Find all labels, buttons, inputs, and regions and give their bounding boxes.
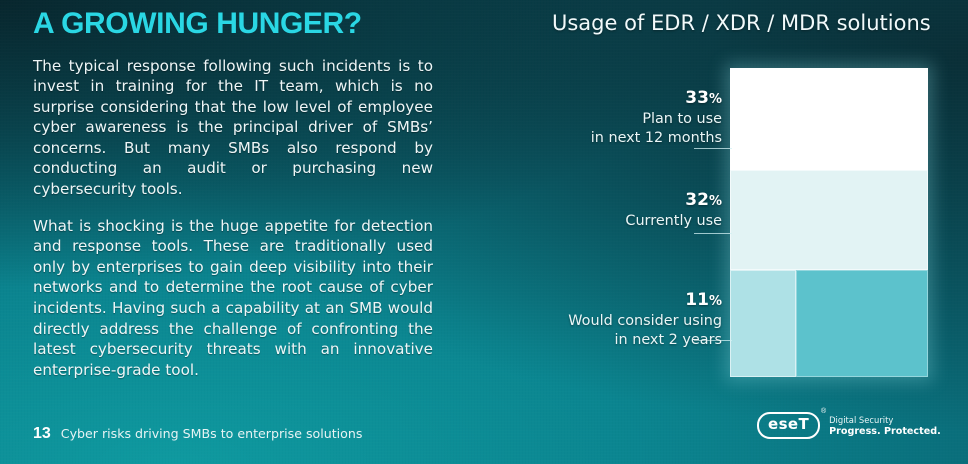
chart-caption-currently-use-line1: Currently use — [625, 212, 722, 231]
chart-caption-would-consider-line1: Would consider using — [568, 312, 722, 331]
page-footer: 13 Cyber risks driving SMBs to enterpris… — [33, 425, 362, 443]
chart-segment-plan-to-use — [730, 68, 928, 170]
chart-caption-would-consider-line2: in next 2 years — [568, 331, 722, 350]
article-column: A GROWING HUNGER? The typical response f… — [33, 8, 433, 380]
article-paragraph-2: What is shocking is the huge appetite fo… — [33, 216, 433, 381]
eset-logo-box: eseT — [757, 412, 820, 439]
page-title: A GROWING HUNGER? — [33, 8, 433, 40]
registered-trademark-icon: ® — [821, 408, 826, 415]
chart-caption-plan-to-use-line2: in next 12 months — [591, 129, 722, 148]
eset-tagline: Digital Security Progress. Protected. — [829, 415, 941, 437]
leader-line-currently-use — [694, 233, 732, 234]
chart-segment-currently-use — [730, 170, 928, 270]
eset-tagline-line1: Digital Security — [829, 415, 941, 426]
leader-line-plan-to-use — [694, 148, 732, 149]
eset-logo: eseT ® Digital Security Progress. Protec… — [757, 412, 941, 439]
eset-logo-mark: eseT ® — [757, 412, 820, 439]
chart-label-plan-to-use: 33% Plan to use in next 12 months — [591, 88, 722, 148]
page-number: 13 — [33, 425, 51, 443]
chart-value-plan-to-use: 33% — [591, 88, 722, 110]
eset-tagline-line2: Progress. Protected. — [829, 426, 941, 437]
chart-segment-would-consider — [730, 270, 928, 377]
chart-label-currently-use: 32% Currently use — [625, 190, 722, 231]
article-paragraph-1: The typical response following such inci… — [33, 56, 433, 200]
chart-title: Usage of EDR / XDR / MDR solutions — [552, 11, 931, 35]
chart-segment-would-consider-remainder — [796, 270, 928, 377]
usage-stacked-bar-chart — [730, 68, 928, 377]
chart-label-would-consider: 11% Would consider using in next 2 years — [568, 290, 722, 350]
eset-logo-wordmark: eseT — [768, 415, 809, 433]
running-title: Cyber risks driving SMBs to enterprise s… — [61, 426, 363, 441]
chart-value-currently-use: 32% — [625, 190, 722, 212]
chart-caption-plan-to-use-line1: Plan to use — [591, 110, 722, 129]
chart-segment-would-consider-value — [730, 270, 796, 377]
chart-value-would-consider: 11% — [568, 290, 722, 312]
slide-page: A GROWING HUNGER? The typical response f… — [0, 0, 968, 464]
